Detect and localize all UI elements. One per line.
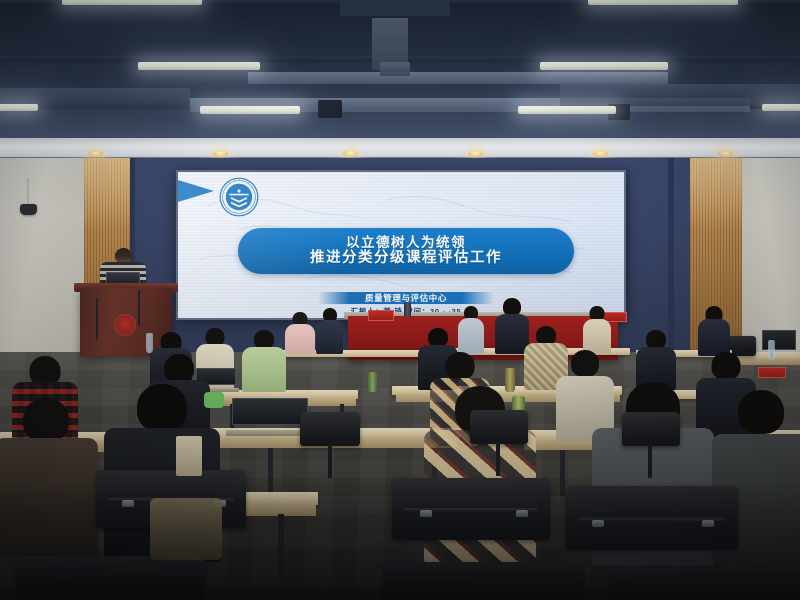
ceiling bbox=[0, 0, 800, 146]
chair bbox=[470, 410, 528, 444]
jacket-on-chair bbox=[150, 498, 222, 560]
podium-seal bbox=[114, 314, 136, 336]
gooseneck-microphone bbox=[138, 290, 140, 326]
conference-room-scene: 以立德树人为统领 推进分类分级课程评估工作 质量管理与评估中心 汇报人：蔡 琦 … bbox=[0, 0, 800, 600]
plush-toy bbox=[204, 392, 224, 408]
attendee-head bbox=[738, 390, 784, 434]
wall-mounted-camera bbox=[20, 204, 37, 215]
ceiling-light-panel bbox=[762, 104, 800, 111]
attendee-head bbox=[137, 384, 187, 432]
chair bbox=[610, 568, 800, 600]
chair bbox=[384, 562, 584, 600]
chair bbox=[622, 412, 680, 446]
chair bbox=[16, 556, 206, 600]
recessed-downlight bbox=[343, 150, 358, 157]
slide-title-pill: 以立德树人为统领 推进分类分级课程评估工作 bbox=[238, 228, 574, 274]
recessed-downlight bbox=[593, 150, 608, 157]
ceiling-light-panel bbox=[62, 0, 202, 5]
recessed-downlight bbox=[718, 150, 733, 157]
ceiling-light-panel bbox=[0, 104, 38, 111]
attendee-torso bbox=[242, 347, 286, 392]
attendee-head bbox=[712, 352, 741, 380]
attendee bbox=[458, 306, 484, 354]
attendee bbox=[583, 306, 611, 354]
ceiling-light-panel bbox=[588, 0, 738, 5]
camera-mount-arm bbox=[27, 178, 29, 205]
attendee-torso bbox=[583, 319, 611, 354]
attendee-head bbox=[571, 350, 599, 377]
attendee bbox=[285, 312, 315, 354]
projector-mount bbox=[318, 100, 342, 118]
university-emblem bbox=[219, 177, 259, 217]
recessed-downlight bbox=[88, 150, 103, 157]
ceiling-light-panel bbox=[518, 106, 616, 114]
gooseneck-microphone bbox=[96, 298, 98, 340]
slide-surface: 以立德树人为统领 推进分类分级课程评估工作 质量管理与评估中心 汇报人：蔡 琦 … bbox=[178, 172, 624, 318]
recessed-downlight bbox=[468, 150, 483, 157]
attendee-torso bbox=[0, 438, 98, 556]
attendee bbox=[242, 330, 286, 392]
attendee-torso bbox=[458, 318, 484, 354]
ceiling-light-panel bbox=[200, 106, 300, 114]
laptop bbox=[232, 398, 308, 436]
thermos bbox=[404, 302, 411, 317]
slide-title-line1: 以立德树人为统领 bbox=[346, 235, 466, 250]
projection-screen: 以立德树人为统领 推进分类分级课程评估工作 质量管理与评估中心 汇报人：蔡 琦 … bbox=[176, 170, 626, 320]
attendee bbox=[316, 308, 343, 354]
thermos bbox=[368, 372, 377, 392]
attendee-torso bbox=[316, 320, 343, 354]
tote-bag bbox=[176, 436, 202, 476]
ceiling-light-panel bbox=[138, 62, 260, 70]
attendee-head bbox=[23, 398, 69, 442]
water-bottle bbox=[768, 340, 775, 360]
slide-arrow-accent bbox=[178, 180, 214, 202]
attendee bbox=[636, 330, 676, 390]
recessed-downlight bbox=[213, 150, 228, 157]
name-placard bbox=[758, 367, 786, 378]
attendee-torso bbox=[698, 319, 730, 356]
attendee-head bbox=[164, 354, 194, 383]
attendee-torso bbox=[285, 324, 315, 354]
attendee-head bbox=[446, 352, 475, 380]
left-side-wall bbox=[0, 158, 86, 370]
attendee bbox=[698, 306, 730, 356]
attendee bbox=[0, 398, 98, 556]
name-placard bbox=[368, 310, 394, 321]
slide-title-line2: 推进分类分级课程评估工作 bbox=[310, 250, 502, 266]
ceiling-light-panel bbox=[540, 62, 668, 70]
chair bbox=[300, 412, 360, 446]
